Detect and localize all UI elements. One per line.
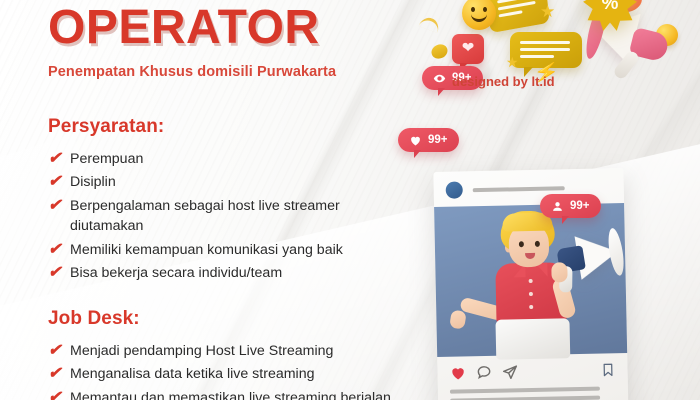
jobdesk-list: ✔ Menjadi pendamping Host Live Streaming… <box>48 341 430 400</box>
requirements-list: ✔ Perempuan ✔ Disiplin ✔ Berpengalaman s… <box>48 149 430 284</box>
bookmark-icon[interactable] <box>600 361 615 378</box>
list-item: ✔ Disiplin <box>48 172 430 193</box>
emoji-mouth <box>471 14 487 22</box>
check-icon: ✔ <box>48 388 70 400</box>
heart-icon: ❤ <box>462 41 475 56</box>
eye-icon <box>433 72 446 85</box>
list-item: ✔ Memantau dan memastikan live streaming… <box>48 388 430 400</box>
character-eye-left <box>519 241 524 247</box>
list-item: ✔ Menjadi pendamping Host Live Streaming <box>48 341 430 362</box>
page-title: OPERATOR <box>48 2 430 54</box>
list-item-label: Disiplin <box>70 172 116 193</box>
poster-text-column: OPERATOR Penempatan Khusus domisili Purw… <box>0 0 430 400</box>
heart-icon[interactable] <box>449 364 466 381</box>
list-item: ✔ Berpengalaman sebagai host live stream… <box>48 196 430 237</box>
check-icon: ✔ <box>48 196 70 216</box>
comment-icon[interactable] <box>475 364 492 381</box>
list-item: ✔ Menganalisa data ketika live streaming <box>48 364 430 385</box>
list-item-label: Bisa bekerja secara individu/team <box>70 263 282 284</box>
character-skirt <box>495 318 570 360</box>
poster-subtitle: Penempatan Khusus domisili Purwakarta <box>48 64 430 80</box>
poster-artwork: ❤ ★ ★ ★ ⚡ designed by lt.id <box>410 0 700 400</box>
star-icon: ★ <box>506 54 519 71</box>
character-shirt-buttons <box>529 279 534 318</box>
list-item-label: Perempuan <box>70 149 143 170</box>
list-item-label: Berpengalaman sebagai host live streamer… <box>70 196 400 237</box>
discount-percent-label: % <box>582 0 638 32</box>
designer-credit: designed by lt.id <box>452 74 555 89</box>
username-placeholder <box>473 186 565 192</box>
list-item: ✔ Bisa bekerja secara individu/team <box>48 263 430 284</box>
jobdesk-heading: Job Desk: <box>48 308 430 330</box>
job-poster: OPERATOR Penempatan Khusus domisili Purw… <box>0 0 700 400</box>
list-item-label: Memiliki kemampuan komunikasi yang baik <box>70 240 343 261</box>
character-eye-right <box>535 241 540 247</box>
star-icon: ★ <box>540 2 555 22</box>
avatar <box>446 181 463 198</box>
character-right-hand <box>551 262 567 282</box>
badge-count: 99+ <box>428 134 448 146</box>
discount-starburst-badge: % <box>582 0 638 32</box>
heart-card-icon: ❤ <box>452 34 484 64</box>
list-item-label: Memantau dan memastikan live streaming b… <box>70 388 400 400</box>
person-icon <box>551 200 564 213</box>
list-item-label: Menjadi pendamping Host Live Streaming <box>70 341 333 362</box>
share-icon[interactable] <box>501 363 518 380</box>
requirements-heading: Persyaratan: <box>48 116 430 138</box>
list-item-label: Menganalisa data ketika live streaming <box>70 364 314 385</box>
list-item: ✔ Memiliki kemampuan komunikasi yang bai… <box>48 240 430 261</box>
check-icon: ✔ <box>48 172 70 192</box>
check-icon: ✔ <box>48 341 70 361</box>
coin-icon <box>429 42 450 60</box>
check-icon: ✔ <box>48 149 70 169</box>
check-icon: ✔ <box>48 263 70 283</box>
list-item: ✔ Perempuan <box>48 149 430 170</box>
post-photo <box>434 203 627 357</box>
badge-count: 99+ <box>570 200 590 212</box>
check-icon: ✔ <box>48 240 70 260</box>
character-left-hand <box>449 309 467 329</box>
actions-spacer <box>528 370 601 372</box>
status-badge: 99+ <box>540 194 601 218</box>
chat-lines <box>497 0 537 21</box>
check-icon: ✔ <box>48 364 70 384</box>
